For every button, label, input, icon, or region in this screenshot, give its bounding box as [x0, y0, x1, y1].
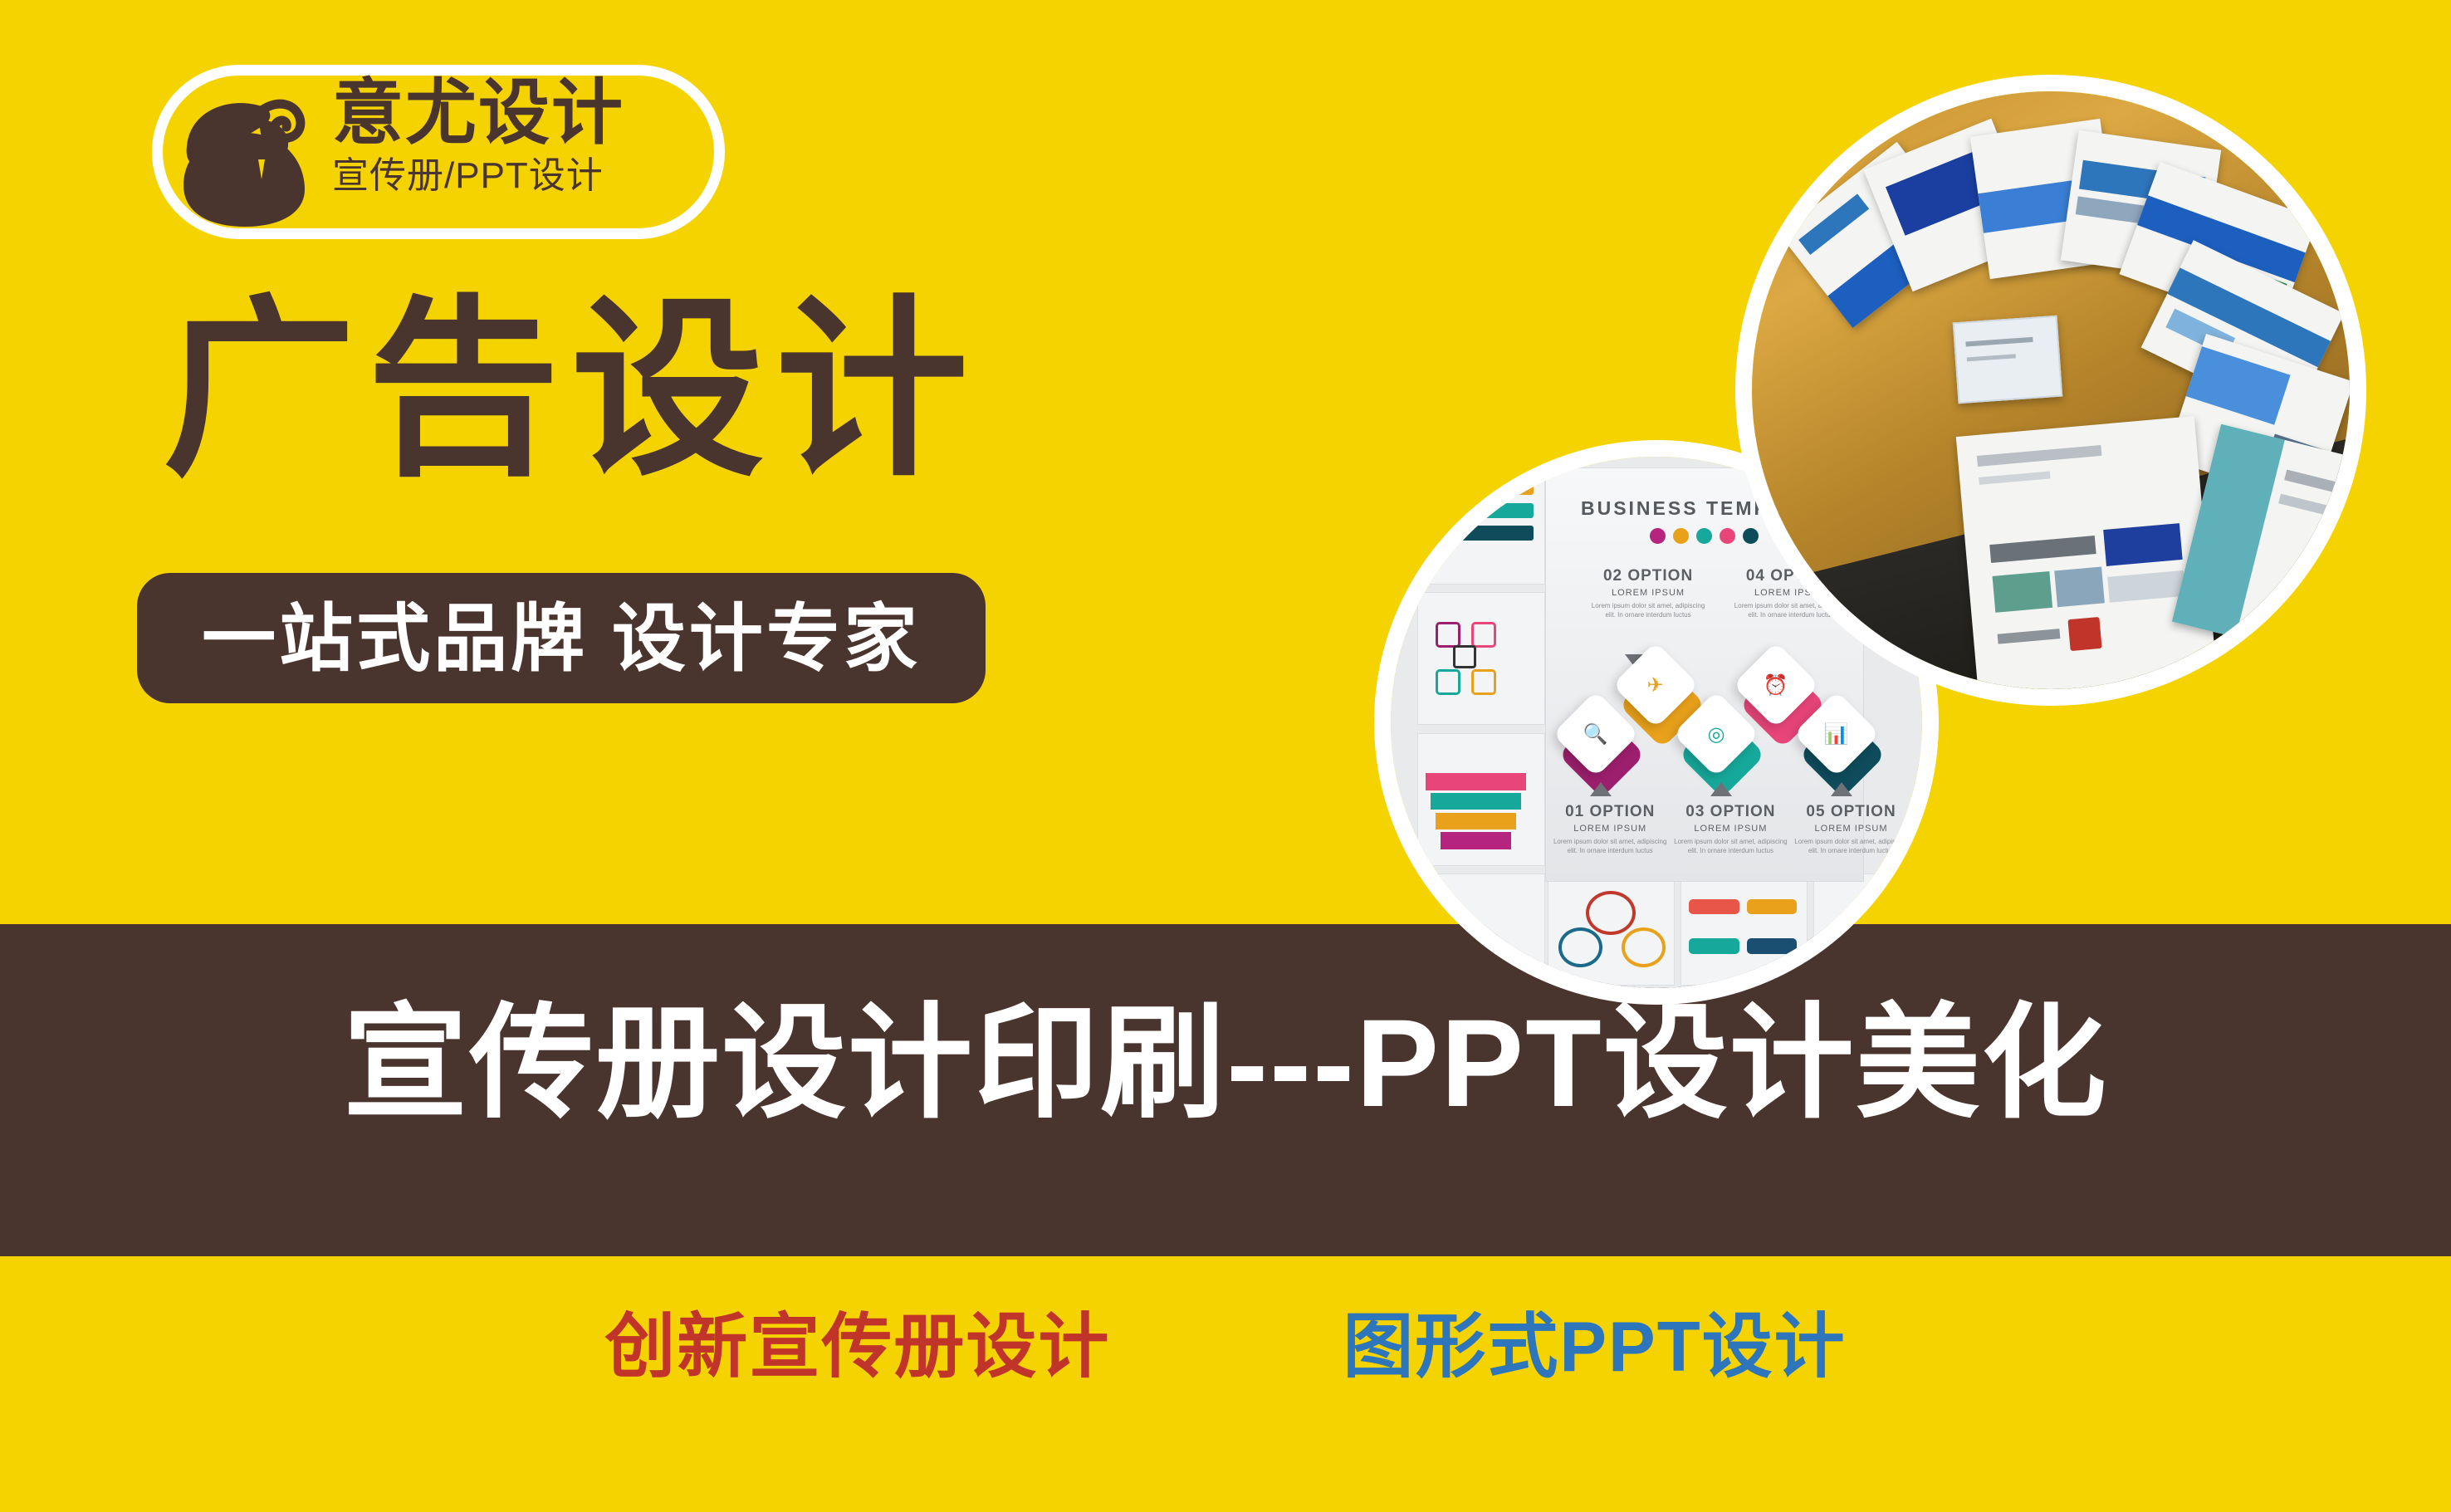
- tagline-text: 一站式品牌 设计专家: [202, 599, 921, 678]
- seed-sprout-icon: [179, 81, 320, 227]
- footer-tags: 创新宣传册设计 图形式PPT设计: [0, 1285, 2451, 1410]
- ppt-option-02: 02 OPTION LOREM IPSUM Lorem ipsum dolor …: [1590, 567, 1706, 619]
- logo-text: 意尤设计 宣传册/PPT设计: [332, 73, 722, 235]
- ppt-option-05: 05 OPTION LOREM IPSUM Lorem ipsum dolor …: [1793, 803, 1910, 855]
- logo-subtitle: 宣传册/PPT设计: [332, 154, 722, 198]
- ppt-option-03: 03 OPTION LOREM IPSUM Lorem ipsum dolor …: [1672, 803, 1788, 855]
- ppt-option-01: 01 OPTION LOREM IPSUM Lorem ipsum dolor …: [1552, 803, 1668, 855]
- brochure-photo-circle: [1735, 75, 2366, 706]
- advertising-banner: 意尤设计 宣传册/PPT设计 广告设计 一站式品牌 设计专家 宣传册设计印刷--…: [0, 0, 2451, 1512]
- logo-name: 意尤设计: [332, 73, 722, 153]
- tag-ppt-design: 图形式PPT设计: [1343, 1306, 1846, 1389]
- page-title: 广告设计: [163, 287, 980, 495]
- printed-brochures-on-wooden-table: [1752, 91, 2350, 689]
- service-band-text: 宣传册设计印刷---PPT设计美化: [0, 988, 2451, 1138]
- tag-brochure-design: 创新宣传册设计: [604, 1306, 1110, 1389]
- tagline-pill: 一站式品牌 设计专家: [137, 573, 986, 703]
